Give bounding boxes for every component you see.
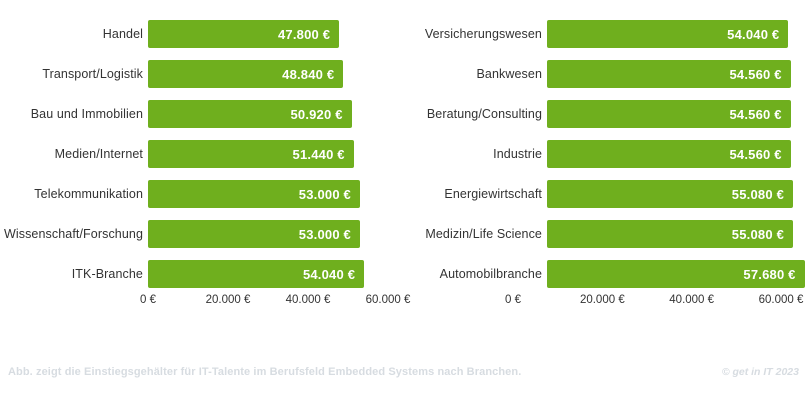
category-label: Beratung/Consulting [404, 107, 542, 121]
bar-value-label: 54.040 € [303, 267, 355, 282]
bar: 57.680 € [547, 260, 805, 288]
category-label: Bau und Immobilien [0, 107, 143, 121]
category-label: Telekommunikation [0, 187, 143, 201]
bar-row: Beratung/Consulting54.560 € [404, 94, 808, 134]
bar-value-label: 53.000 € [299, 187, 351, 202]
bar-value-label: 57.680 € [743, 267, 795, 282]
category-label: Wissenschaft/Forschung [0, 227, 143, 241]
bar-row: Wissenschaft/Forschung53.000 € [0, 214, 404, 254]
bar-value-label: 54.560 € [729, 107, 781, 122]
bar-value-label: 47.800 € [278, 27, 330, 42]
category-label: Automobilbranche [404, 267, 542, 281]
bar: 51.440 € [148, 140, 354, 168]
bar: 54.040 € [148, 260, 364, 288]
chart-panel-left: Handel47.800 €Transport/Logistik48.840 €… [0, 14, 404, 314]
bar: 47.800 € [148, 20, 339, 48]
bar: 55.080 € [547, 220, 793, 248]
footer-credit: © get in IT 2023 [722, 366, 799, 378]
bar-row: Transport/Logistik48.840 € [0, 54, 404, 94]
footer-divider [0, 352, 808, 353]
x-axis-tick-label: 20.000 € [206, 294, 251, 306]
bar-track: 54.040 € [143, 254, 404, 294]
category-label: Bankwesen [404, 67, 542, 81]
bar-row: Bankwesen54.560 € [404, 54, 808, 94]
bar-row: Versicherungswesen54.040 € [404, 14, 808, 54]
salary-bar-chart: Handel47.800 €Transport/Logistik48.840 €… [0, 0, 808, 403]
bar: 55.080 € [547, 180, 793, 208]
bar-track: 54.560 € [542, 54, 808, 94]
bar-value-label: 54.560 € [729, 147, 781, 162]
bar-row: Handel47.800 € [0, 14, 404, 54]
chart-panel-right: Versicherungswesen54.040 €Bankwesen54.56… [404, 14, 808, 314]
x-axis-tick-label: 20.000 € [580, 294, 625, 306]
bar-value-label: 50.920 € [290, 107, 342, 122]
bar: 48.840 € [148, 60, 343, 88]
bar-track: 50.920 € [143, 94, 404, 134]
bar: 50.920 € [148, 100, 352, 128]
bar-value-label: 55.080 € [732, 187, 784, 202]
category-label: Transport/Logistik [0, 67, 143, 81]
category-label: Energiewirtschaft [404, 187, 542, 201]
bar: 53.000 € [148, 180, 360, 208]
x-axis-tick-label: 60.000 € [759, 294, 804, 306]
bar-track: 54.040 € [542, 14, 808, 54]
bar-row: Energiewirtschaft55.080 € [404, 174, 808, 214]
bar-row: Bau und Immobilien50.920 € [0, 94, 404, 134]
bar-track: 53.000 € [143, 174, 404, 214]
bar-track: 53.000 € [143, 214, 404, 254]
bar-row: Medizin/Life Science55.080 € [404, 214, 808, 254]
bar-row: ITK-Branche54.040 € [0, 254, 404, 294]
bar: 53.000 € [148, 220, 360, 248]
category-label: ITK-Branche [0, 267, 143, 281]
bar-value-label: 53.000 € [299, 227, 351, 242]
bar-rows-right: Versicherungswesen54.040 €Bankwesen54.56… [404, 14, 808, 294]
bar-value-label: 51.440 € [293, 147, 345, 162]
x-axis-tick-label: 40.000 € [286, 294, 331, 306]
bar-track: 47.800 € [143, 14, 404, 54]
bar-value-label: 48.840 € [282, 67, 334, 82]
bar-row: Industrie54.560 € [404, 134, 808, 174]
bar-track: 55.080 € [542, 214, 808, 254]
category-label: Medien/Internet [0, 147, 143, 161]
chart-footer: Abb. zeigt die Einstiegsgehälter für IT-… [0, 352, 808, 392]
x-axis-tick-label: 40.000 € [669, 294, 714, 306]
x-axis-tick-label: 0 € [505, 294, 521, 306]
bar: 54.560 € [547, 60, 791, 88]
category-label: Medizin/Life Science [404, 227, 542, 241]
bar-track: 51.440 € [143, 134, 404, 174]
category-label: Industrie [404, 147, 542, 161]
bar-row: Medien/Internet51.440 € [0, 134, 404, 174]
bar-rows-left: Handel47.800 €Transport/Logistik48.840 €… [0, 14, 404, 294]
bar-track: 57.680 € [542, 254, 808, 294]
bar-track: 48.840 € [143, 54, 404, 94]
bar-track: 54.560 € [542, 94, 808, 134]
bar: 54.560 € [547, 140, 791, 168]
category-label: Handel [0, 27, 143, 41]
x-axis-right: 0 €20.000 €40.000 €60.000 € [404, 294, 808, 314]
bar: 54.040 € [547, 20, 788, 48]
footer-note: Abb. zeigt die Einstiegsgehälter für IT-… [8, 366, 521, 378]
chart-panels: Handel47.800 €Transport/Logistik48.840 €… [0, 14, 808, 314]
category-label: Versicherungswesen [404, 27, 542, 41]
bar-value-label: 54.560 € [729, 67, 781, 82]
bar-track: 55.080 € [542, 174, 808, 214]
bar-row: Automobilbranche57.680 € [404, 254, 808, 294]
x-axis-tick-label: 0 € [140, 294, 156, 306]
x-axis-left: 0 €20.000 €40.000 €60.000 € [0, 294, 404, 314]
bar-value-label: 55.080 € [732, 227, 784, 242]
bar-row: Telekommunikation53.000 € [0, 174, 404, 214]
bar-value-label: 54.040 € [727, 27, 779, 42]
bar: 54.560 € [547, 100, 791, 128]
bar-track: 54.560 € [542, 134, 808, 174]
